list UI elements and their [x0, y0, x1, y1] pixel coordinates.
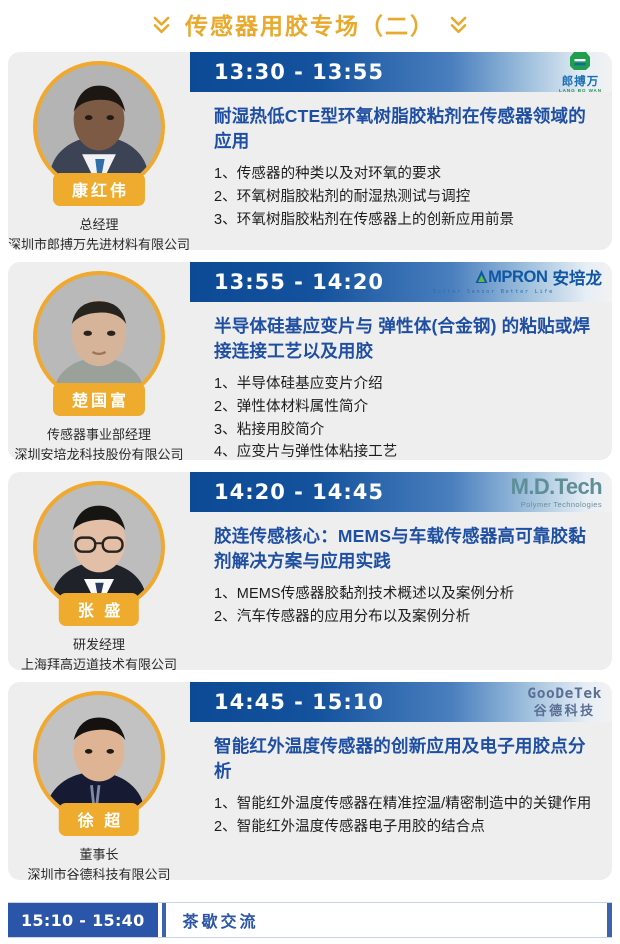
speaker-name: 康红伟 — [53, 173, 145, 206]
speaker-company: 深圳市谷德科技有限公司 — [27, 865, 170, 881]
session-detail: 14:45 - 15:10 GooDeTek 谷德科技 智能红外温度传感器的创新… — [190, 682, 612, 880]
session-time: 14:20 - 14:45 — [214, 482, 384, 503]
speaker-role: 总经理 — [79, 215, 118, 235]
session-bullets: 1、MEMS传感器胶黏剂技术概述以及案例分析 2、汽车传感器的应用分布以及案例分… — [214, 583, 602, 629]
session-detail: 13:30 - 13:55 郎搏万 LANG BO WAN — [190, 52, 612, 250]
bullet-item: 1、传感器的种类以及对环氧的要求 — [214, 163, 602, 186]
speaker-name: 楚国富 — [53, 383, 145, 416]
speaker-block: 楚国富 传感器事业部经理 深圳安培龙科技股份有限公司 — [8, 262, 190, 460]
session-detail: 13:55 - 14:20 MPRON — [190, 262, 612, 460]
langbowan-mark-icon — [567, 52, 593, 76]
bullet-item: 2、弹性体材料属性简介 — [214, 396, 602, 419]
break-end-bar — [607, 903, 612, 937]
session-list: 康红伟 总经理 深圳市郎搏万先进材料有限公司 13:30 - 13:55 — [0, 52, 620, 880]
session-bullets: 1、智能红外温度传感器在精准控温/精密制造中的关键作用 2、智能红外温度传感器电… — [214, 793, 602, 839]
session-card[interactable]: 徐 超 董事长 深圳市谷德科技有限公司 14:45 - 15:10 GooDeT… — [8, 682, 612, 880]
speaker-block: 张 盛 研发经理 上海拜高迈道技术有限公司 — [8, 472, 190, 670]
mdtech-tagline: Polymer Technologies — [521, 501, 602, 509]
company-logo: M.D.Tech Polymer Technologies — [511, 472, 602, 512]
session-bullets: 1、半导体硅基应变片介绍 2、弹性体材料属性简介 3、粘接用胶简介 4、应变片与… — [214, 373, 602, 460]
session-card[interactable]: 楚国富 传感器事业部经理 深圳安培龙科技股份有限公司 13:55 - 14:20 — [8, 262, 612, 460]
bullet-item: 1、半导体硅基应变片介绍 — [214, 373, 602, 396]
bullet-item: 3、粘接用胶简介 — [214, 419, 602, 442]
avatar-wrap: 徐 超 — [33, 691, 165, 823]
company-logo: 郎搏万 LANG BO WAN — [559, 52, 602, 92]
avatar-wrap: 张 盛 — [33, 481, 165, 613]
session-bullets: 1、传感器的种类以及对环氧的要求 2、环氧树脂胶粘剂的耐湿热测试与调控 3、环氧… — [214, 163, 602, 232]
avatar-wrap: 楚国富 — [33, 271, 165, 403]
ampron-tagline: Better Sensor Better Life — [433, 290, 554, 295]
session-card[interactable]: 康红伟 总经理 深圳市郎搏万先进材料有限公司 13:30 - 13:55 — [8, 52, 612, 250]
bullet-item: 1、MEMS传感器胶黏剂技术概述以及案例分析 — [214, 583, 602, 606]
break-time: 15:10 - 15:40 — [8, 903, 158, 937]
session-time-bar: 13:30 - 13:55 郎搏万 LANG BO WAN — [190, 52, 612, 92]
bullet-item: 2、智能红外温度传感器电子用胶的结合点 — [214, 816, 602, 839]
bullet-item: 3、环氧树脂胶粘剂在传感器上的创新应用前景 — [214, 209, 602, 232]
chevron-down-icon — [449, 15, 468, 37]
ampron-letters: MPRON — [488, 269, 547, 286]
company-logo: GooDeTek 谷德科技 — [527, 682, 602, 722]
speaker-block: 康红伟 总经理 深圳市郎搏万先进材料有限公司 — [8, 52, 190, 250]
session-time-bar: 13:55 - 14:20 MPRON — [190, 262, 612, 302]
speaker-role: 研发经理 — [73, 635, 125, 655]
speaker-company: 上海拜高迈道技术有限公司 — [21, 655, 177, 671]
session-time: 13:55 - 14:20 — [214, 272, 384, 293]
session-card[interactable]: 张 盛 研发经理 上海拜高迈道技术有限公司 14:20 - 14:45 M.D.… — [8, 472, 612, 670]
session-title: 半导体硅基应变片与 弹性体(合金钢) 的粘贴或焊接连接工艺以及用胶 — [214, 314, 598, 364]
session-time-bar: 14:45 - 15:10 GooDeTek 谷德科技 — [190, 682, 612, 722]
session-time: 13:30 - 13:55 — [214, 62, 384, 83]
session-detail: 14:20 - 14:45 M.D.Tech Polymer Technolog… — [190, 472, 612, 670]
speaker-role: 传感器事业部经理 — [47, 425, 151, 445]
session-time: 14:45 - 15:10 — [214, 692, 384, 713]
speaker-company: 深圳安培龙科技股份有限公司 — [14, 445, 183, 461]
bullet-item: 1、智能红外温度传感器在精准控温/精密制造中的关键作用 — [214, 793, 602, 816]
goodetek-cn-label: 谷德科技 — [534, 704, 596, 717]
speaker-name: 张 盛 — [59, 593, 139, 626]
session-time-bar: 14:20 - 14:45 M.D.Tech Polymer Technolog… — [190, 472, 612, 512]
goodetek-wordmark: GooDeTek — [527, 687, 602, 702]
avatar-wrap: 康红伟 — [33, 61, 165, 193]
ampron-triangle-icon — [475, 269, 488, 284]
break-row: 15:10 - 15:40 茶歇交流 — [8, 902, 612, 938]
ampron-wordmark: MPRON — [475, 269, 547, 286]
mdtech-wordmark: M.D.Tech — [511, 476, 602, 498]
company-logo: MPRON 安培龙 Better Sensor Better Life — [433, 262, 602, 302]
bullet-item: 2、汽车传感器的应用分布以及案例分析 — [214, 606, 602, 629]
session-title: 耐湿热低CTE型环氧树脂胶粘剂在传感器领域的应用 — [214, 104, 598, 154]
bullet-item: 4、应变片与弹性体粘接工艺 — [214, 441, 602, 460]
ampron-cn-label: 安培龙 — [553, 271, 603, 288]
speaker-block: 徐 超 董事长 深圳市谷德科技有限公司 — [8, 682, 190, 880]
page-title: 传感器用胶专场（二） — [185, 15, 435, 38]
session-title: 胶连传感核心：MEMS与车载传感器高可靠胶黏剂解决方案与应用实践 — [214, 524, 598, 574]
bullet-item: 2、环氧树脂胶粘剂的耐湿热测试与调控 — [214, 186, 602, 209]
langbowan-cn-label: 郎搏万 — [562, 77, 600, 89]
speaker-name: 徐 超 — [59, 803, 139, 836]
speaker-company: 深圳市郎搏万先进材料有限公司 — [8, 235, 190, 251]
speaker-role: 董事长 — [79, 845, 118, 865]
langbowan-en-label: LANG BO WAN — [559, 89, 602, 94]
chevron-down-icon — [152, 15, 171, 37]
break-label: 茶歇交流 — [166, 903, 607, 937]
page-header: 传感器用胶专场（二） — [0, 0, 620, 52]
session-title: 智能红外温度传感器的创新应用及电子用胶点分析 — [214, 734, 598, 784]
